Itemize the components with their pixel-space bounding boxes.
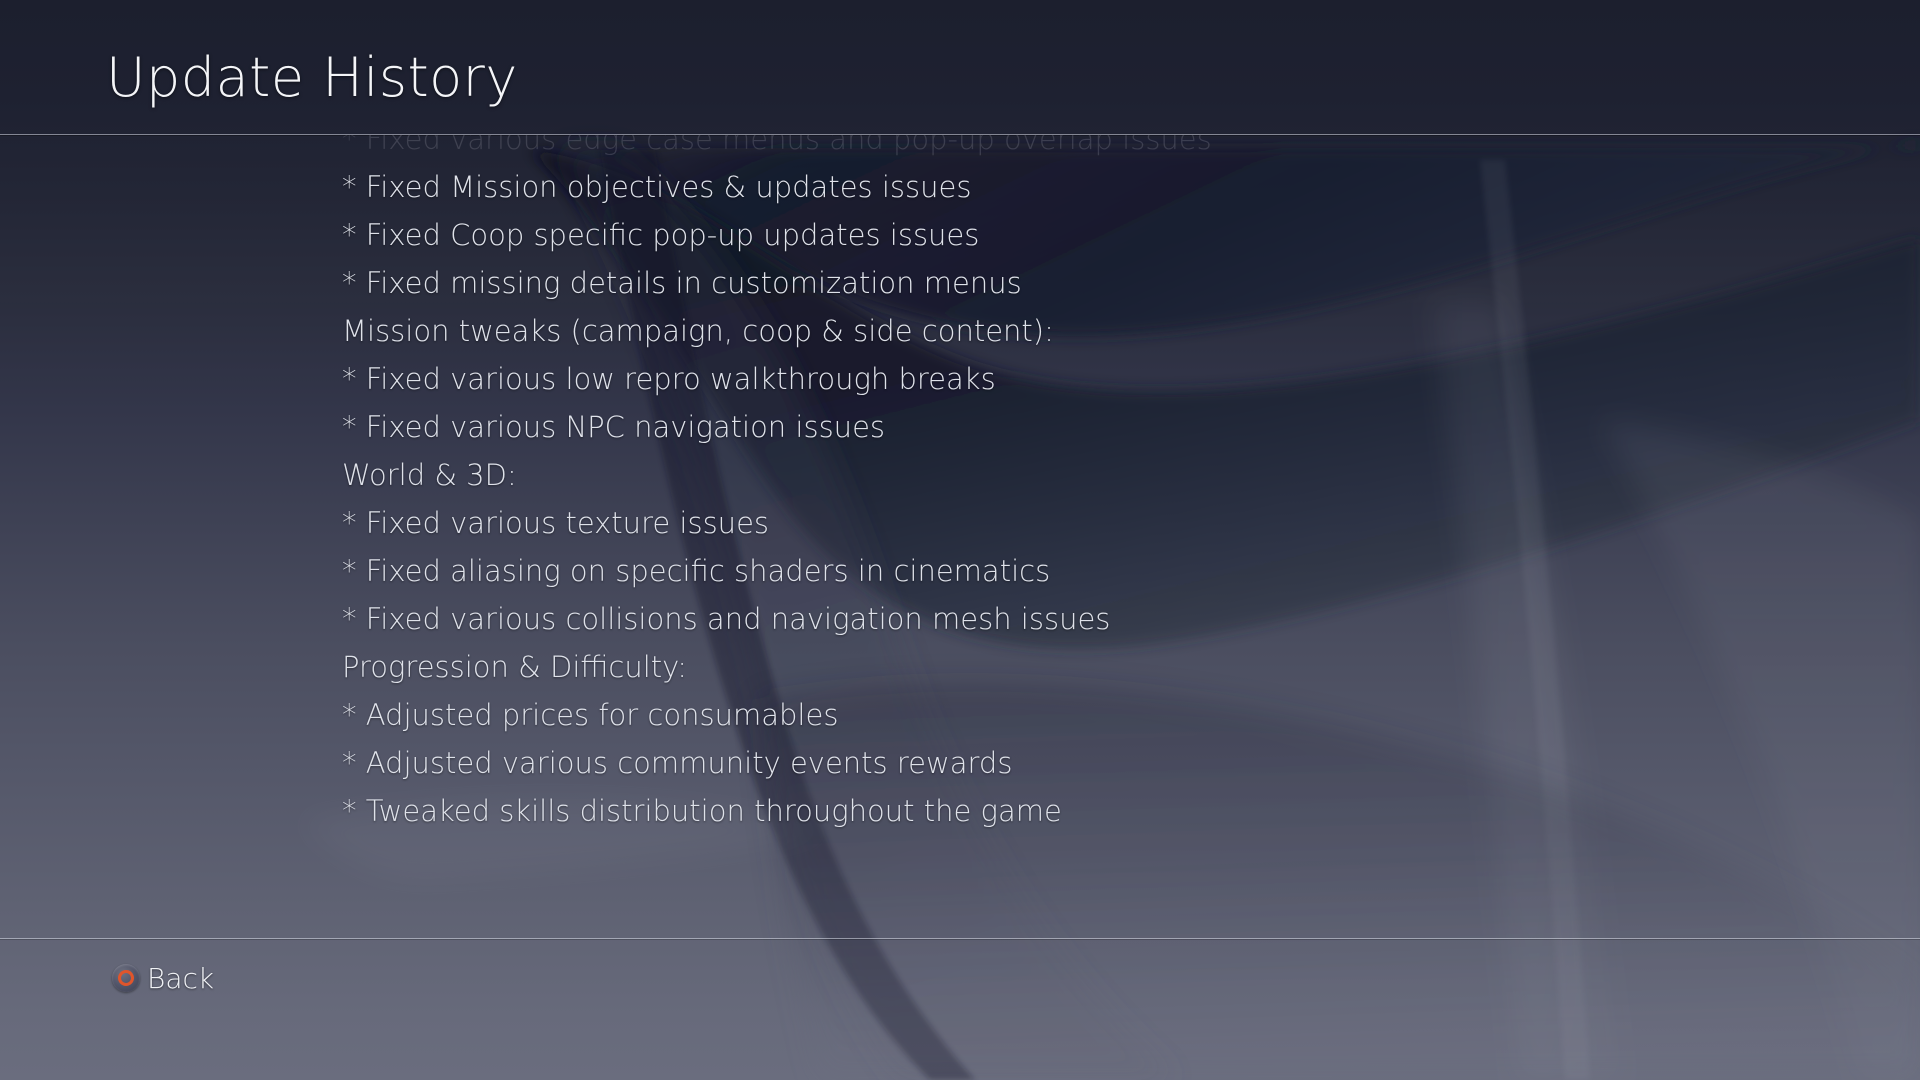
footer-divider	[0, 938, 1920, 939]
patch-note-line: * Adjusted prices for consumables	[342, 691, 1642, 739]
patch-note-line: * Fixed Coop specific pop-up updates iss…	[342, 211, 1642, 259]
patch-note-line: * Fixed missing details in customization…	[342, 259, 1642, 307]
patch-note-line: * Fixed various collisions and navigatio…	[342, 595, 1642, 643]
patch-note-line: * Adjusted various community events rewa…	[342, 739, 1642, 787]
patch-note-line: * Tweaked skills distribution throughout…	[342, 787, 1642, 835]
patch-note-line: * Fixed various texture issues	[342, 499, 1642, 547]
circle-button-icon	[112, 964, 140, 992]
patch-note-line: World & 3D:	[342, 451, 1642, 499]
patch-notes-scroll-area[interactable]: * Fixed various edge case menus and pop-…	[0, 135, 1920, 938]
patch-note-line: * Fixed various edge case menus and pop-…	[342, 135, 1642, 163]
patch-note-line: * Fixed various NPC navigation issues	[342, 403, 1642, 451]
page-title: Update History	[106, 46, 518, 109]
update-history-screen: Update History * Fixed various edge case…	[0, 0, 1920, 1080]
page-header: Update History	[0, 0, 1920, 135]
patch-note-line: Mission tweaks (campaign, coop & side co…	[342, 307, 1642, 355]
patch-note-line: * Fixed various low repro walkthrough br…	[342, 355, 1642, 403]
page-footer: Back	[0, 938, 1920, 1080]
patch-note-line: Progression & Difficulty:	[342, 643, 1642, 691]
patch-note-line: * Fixed Mission objectives & updates iss…	[342, 163, 1642, 211]
back-button[interactable]: Back	[112, 958, 214, 998]
patch-notes-list: * Fixed various edge case menus and pop-…	[342, 135, 1642, 835]
patch-note-line: * Fixed aliasing on specific shaders in …	[342, 547, 1642, 595]
back-button-label: Back	[147, 962, 214, 995]
